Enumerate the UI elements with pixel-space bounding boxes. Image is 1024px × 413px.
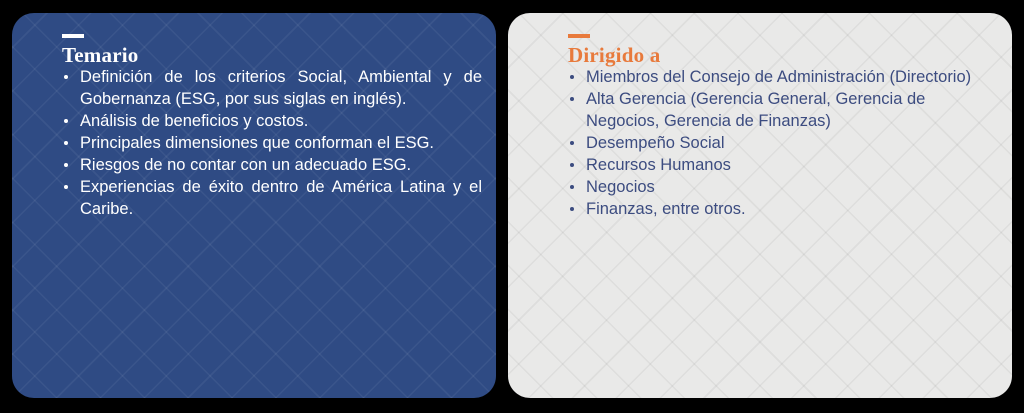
list-item: Riesgos de no contar con un adecuado ESG… [62, 154, 482, 176]
page-title-dirigido-a: Dirigido a [568, 44, 992, 66]
dirigido-a-list: Miembros del Consejo de Administración (… [568, 66, 988, 220]
list-item-label: Negocios [586, 176, 988, 198]
heading-rule-icon [62, 34, 84, 38]
list-item-label: Alta Gerencia (Gerencia General, Gerenci… [586, 88, 988, 132]
list-item-label: Principales dimensiones que conforman el… [80, 132, 482, 154]
heading-rule-icon [568, 34, 590, 38]
list-item: Experiencias de éxito dentro de América … [62, 176, 482, 220]
temario-list: Definición de los criterios Social, Ambi… [62, 66, 482, 220]
list-item: Recursos Humanos [568, 154, 988, 176]
list-item: Negocios [568, 176, 988, 198]
slide-canvas: Temario Definición de los criterios Soci… [0, 0, 1024, 413]
list-item: Definición de los criterios Social, Ambi… [62, 66, 482, 110]
list-item-label: Recursos Humanos [586, 154, 988, 176]
list-item-label: Desempeño Social [586, 132, 988, 154]
panel-dirigido-a-content: Dirigido a Miembros del Consejo de Admin… [508, 13, 1012, 398]
list-item: Alta Gerencia (Gerencia General, Gerenci… [568, 88, 988, 132]
list-item-label: Finanzas, entre otros. [586, 198, 988, 220]
list-item: Miembros del Consejo de Administración (… [568, 66, 988, 88]
list-item: Principales dimensiones que conforman el… [62, 132, 482, 154]
list-item: Finanzas, entre otros. [568, 198, 988, 220]
list-item-label: Riesgos de no contar con un adecuado ESG… [80, 154, 482, 176]
list-item-label: Miembros del Consejo de Administración (… [586, 66, 988, 88]
panel-dirigido-a: Dirigido a Miembros del Consejo de Admin… [508, 13, 1012, 398]
list-item-label: Experiencias de éxito dentro de América … [80, 176, 482, 220]
page-title-temario: Temario [62, 44, 482, 66]
panel-temario: Temario Definición de los criterios Soci… [12, 13, 496, 398]
list-item: Análisis de beneficios y costos. [62, 110, 482, 132]
list-item-label: Definición de los criterios Social, Ambi… [80, 66, 482, 110]
panel-temario-content: Temario Definición de los criterios Soci… [12, 13, 496, 398]
list-item-label: Análisis de beneficios y costos. [80, 110, 482, 132]
list-item: Desempeño Social [568, 132, 988, 154]
